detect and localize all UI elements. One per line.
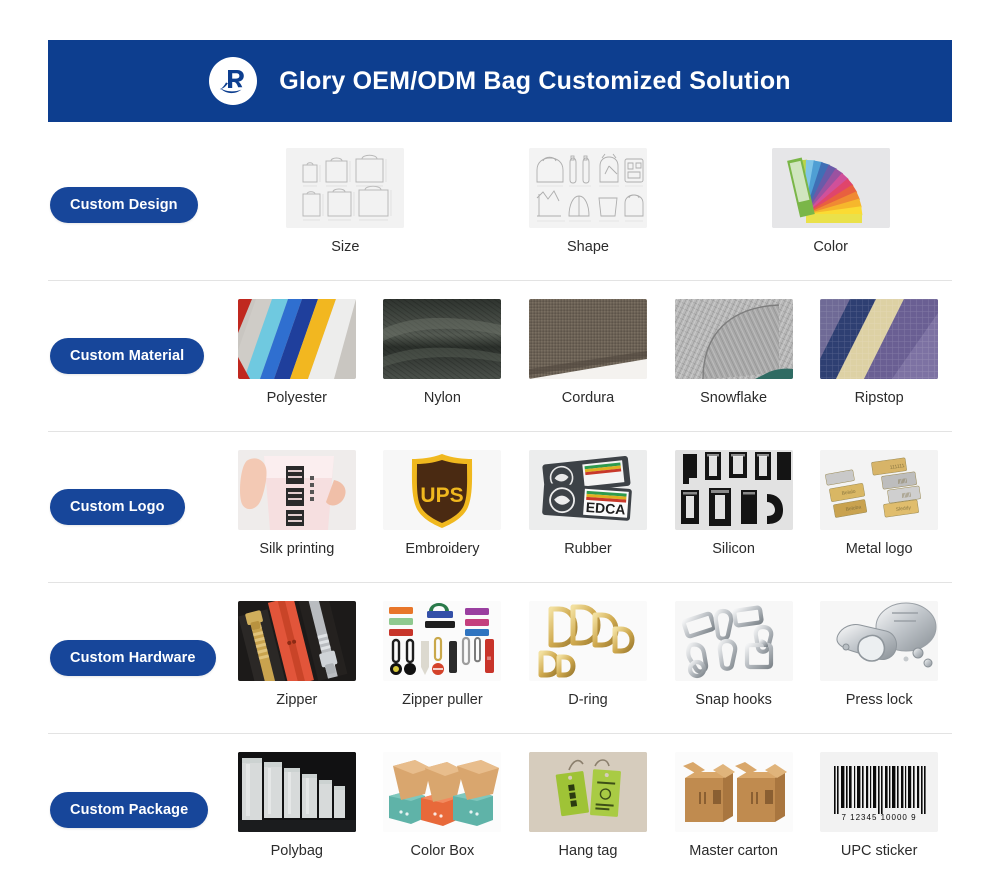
pantone-color-fan-icon — [772, 148, 890, 228]
hang-tag-icon — [529, 752, 647, 832]
item-caption: Zipper — [276, 692, 317, 708]
press-lock-icon — [820, 601, 938, 681]
zipper-puller-icon: |||| — [383, 601, 501, 681]
item-cordura[interactable]: Cordura — [515, 299, 661, 406]
item-metal-logo[interactable]: Belalo Beloba 111111 ||||||| ||||||| Sle… — [806, 450, 952, 557]
row-items: Size — [224, 130, 952, 280]
item-caption: Press lock — [846, 692, 913, 708]
row-label-cell: Custom Logo — [48, 432, 224, 582]
item-caption: Zipper puller — [402, 692, 483, 708]
item-nylon[interactable]: Nylon — [370, 299, 516, 406]
silicon-letters-icon — [675, 450, 793, 530]
item-color[interactable]: Color — [709, 148, 952, 255]
item-caption: Nylon — [424, 390, 461, 406]
rubber-patch-icon: EDCA — [529, 450, 647, 530]
row-custom-material: Custom Material — [48, 280, 952, 431]
upc-barcode-icon: 7 12345 10000 9 — [820, 752, 938, 832]
item-caption: Polyester — [267, 390, 327, 406]
category-pill-custom-package[interactable]: Custom Package — [50, 792, 208, 829]
item-size[interactable]: Size — [224, 148, 467, 255]
snowflake-fabric-icon — [675, 299, 793, 379]
d-ring-icon — [529, 601, 647, 681]
row-items: Polybag — [224, 734, 952, 886]
item-caption: Silk printing — [259, 541, 334, 557]
cordura-fabric-icon — [529, 299, 647, 379]
row-label-cell: Custom Material — [48, 281, 224, 431]
row-custom-logo: Custom Logo — [48, 431, 952, 582]
item-zipper[interactable]: Zipper — [224, 601, 370, 708]
category-pill-custom-design[interactable]: Custom Design — [50, 187, 198, 224]
item-snowflake[interactable]: Snowflake — [661, 299, 807, 406]
silk-printing-cup-icon — [238, 450, 356, 530]
snap-hooks-icon — [675, 601, 793, 681]
item-hang-tag[interactable]: Hang tag — [515, 752, 661, 859]
svg-text:|||||||: ||||||| — [898, 478, 908, 485]
polyester-fabric-swatches-icon — [238, 299, 356, 379]
page-banner: Glory OEM/ODM Bag Customized Solution — [48, 40, 952, 122]
master-carton-icon — [675, 752, 793, 832]
item-snap-hooks[interactable]: Snap hooks — [661, 601, 807, 708]
ripstop-fabric-icon — [820, 299, 938, 379]
item-caption: UPC sticker — [841, 843, 918, 859]
ups-wordmark: UPS — [421, 484, 464, 507]
category-pill-custom-hardware[interactable]: Custom Hardware — [50, 640, 216, 677]
row-custom-hardware: Custom Hardware — [48, 582, 952, 733]
item-caption: Rubber — [564, 541, 612, 557]
bag-size-sketches-icon — [286, 148, 404, 228]
item-ripstop[interactable]: Ripstop — [806, 299, 952, 406]
row-custom-design: Custom Design — [48, 130, 952, 280]
polybag-icon — [238, 752, 356, 832]
item-caption: Color — [813, 239, 848, 255]
glory-circle-logo-icon — [209, 57, 257, 105]
item-silk-printing[interactable]: Silk printing — [224, 450, 370, 557]
row-label-cell: Custom Hardware — [48, 583, 224, 733]
row-custom-package: Custom Package — [48, 733, 952, 886]
item-embroidery[interactable]: UPS Embroidery — [370, 450, 516, 557]
item-color-box[interactable]: Color Box — [370, 752, 516, 859]
bag-shape-sketches-icon — [529, 148, 647, 228]
svg-text:|||||||: ||||||| — [902, 492, 912, 499]
item-caption: Snowflake — [700, 390, 767, 406]
item-polybag[interactable]: Polybag — [224, 752, 370, 859]
upc-number: 7 12345 10000 9 — [842, 813, 917, 822]
item-zipper-puller[interactable]: |||| Zipper puller — [370, 601, 516, 708]
nylon-fabric-icon — [383, 299, 501, 379]
item-press-lock[interactable]: Press lock — [806, 601, 952, 708]
item-caption: Master carton — [689, 843, 778, 859]
item-caption: Ripstop — [855, 390, 904, 406]
banner-title: Glory OEM/ODM Bag Customized Solution — [279, 67, 791, 96]
item-caption: Color Box — [411, 843, 475, 859]
row-label-cell: Custom Package — [48, 734, 224, 886]
item-master-carton[interactable]: Master carton — [661, 752, 807, 859]
row-items: Silk printing UPS Embroidery — [224, 432, 952, 582]
item-caption: Hang tag — [559, 843, 618, 859]
item-caption: Embroidery — [405, 541, 479, 557]
category-pill-custom-logo[interactable]: Custom Logo — [50, 489, 185, 526]
item-caption: Size — [331, 239, 359, 255]
metal-logo-plates-icon: Belalo Beloba 111111 ||||||| ||||||| Sle… — [820, 450, 938, 530]
item-silicon[interactable]: Silicon — [661, 450, 807, 557]
item-caption: Cordura — [562, 390, 614, 406]
item-polyester[interactable]: Polyester — [224, 299, 370, 406]
zipper-icon — [238, 601, 356, 681]
row-label-cell: Custom Design — [48, 130, 224, 280]
item-shape[interactable]: Shape — [467, 148, 710, 255]
item-upc-sticker[interactable]: 7 12345 10000 9 UPC sticker — [806, 752, 952, 859]
row-items: Polyester — [224, 281, 952, 431]
item-caption: Polybag — [271, 843, 323, 859]
bag-customization-infographic: Glory OEM/ODM Bag Customized Solution Cu… — [0, 0, 1000, 884]
embroidery-ups-shield-icon: UPS — [383, 450, 501, 530]
item-caption: D-ring — [568, 692, 607, 708]
row-items: Zipper — [224, 583, 952, 733]
item-rubber[interactable]: EDCA Rubber — [515, 450, 661, 557]
category-rows: Custom Design — [48, 130, 952, 886]
edca-wordmark: EDCA — [585, 499, 626, 518]
category-pill-custom-material[interactable]: Custom Material — [50, 338, 204, 375]
item-caption: Metal logo — [846, 541, 913, 557]
item-caption: Shape — [567, 239, 609, 255]
item-d-ring[interactable]: D-ring — [515, 601, 661, 708]
color-box-icon — [383, 752, 501, 832]
svg-text:||||: |||| — [487, 655, 491, 660]
item-caption: Silicon — [712, 541, 755, 557]
item-caption: Snap hooks — [695, 692, 772, 708]
